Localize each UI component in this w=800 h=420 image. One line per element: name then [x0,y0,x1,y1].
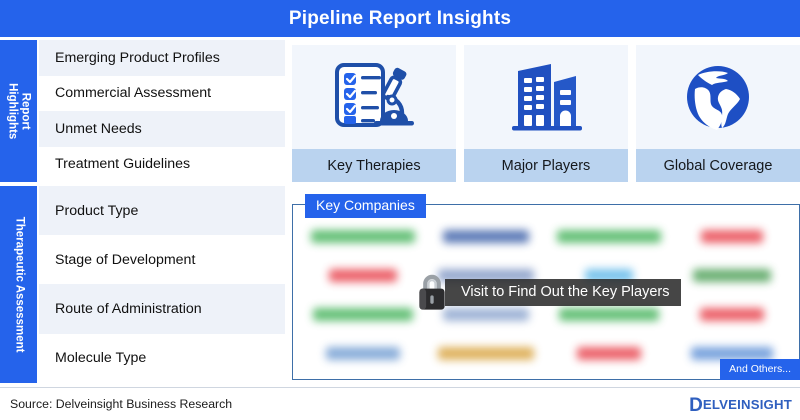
card-label: Major Players [464,149,628,182]
sidebar-item-emerging-product-profiles[interactable]: Emerging Product Profiles [37,40,285,76]
sidebar-item-route-of-administration[interactable]: Route of Administration [37,284,285,333]
source-text: Source: Delveinsight Business Research [10,397,232,411]
page-footer: Source: Delveinsight Business Research D… [0,387,800,420]
company-logo-placeholder [329,269,397,282]
company-logo-placeholder [443,230,529,243]
company-logo-placeholder [438,347,534,360]
sidebar-item-label: Molecule Type [55,350,146,366]
logo-wordmark: ELVEINSIGHT [703,397,792,412]
company-logo-placeholder [438,269,534,282]
card-label: Global Coverage [636,149,800,182]
sidebar-item-commercial-assessment[interactable]: Commercial Assessment [37,76,285,112]
page-header: Pipeline Report Insights [0,0,800,37]
sidebar: Report Highlights Emerging Product Profi… [0,40,285,383]
and-others-badge[interactable]: And Others... [720,359,800,380]
sidebar-item-molecule-type[interactable]: Molecule Type [37,334,285,383]
sidebar-item-unmet-needs[interactable]: Unmet Needs [37,111,285,147]
card-global-coverage[interactable]: Global Coverage [636,45,800,182]
company-logo-placeholder [443,308,529,321]
sidebar-group-tab-label: Report Highlights [5,83,31,139]
sidebar-item-treatment-guidelines[interactable]: Treatment Guidelines [37,147,285,183]
company-logo-placeholder [700,308,764,321]
key-companies-panel: Key Companies Visit to Find Out the Key … [292,204,800,380]
sidebar-item-label: Emerging Product Profiles [55,50,220,66]
company-logo-placeholder [693,269,771,282]
sidebar-group-tab-therapeutic-assessment: Therapeutic Assessment [0,186,37,383]
company-logo-grid [293,215,800,379]
sidebar-item-label: Product Type [55,203,138,219]
sidebar-item-label: Route of Administration [55,301,202,317]
sidebar-item-label: Treatment Guidelines [55,156,190,172]
logo-initial: D [689,396,703,415]
sidebar-item-label: Stage of Development [55,252,195,268]
feature-cards: Key Therapies [292,45,800,182]
company-logo-placeholder [557,230,661,243]
clipboard-microscope-icon [292,45,456,149]
sidebar-group-items: Emerging Product Profiles Commercial Ass… [37,40,285,182]
pipeline-report-insights-page: Pipeline Report Insights Report Highligh… [0,0,800,420]
company-logo-placeholder [313,308,413,321]
card-key-therapies[interactable]: Key Therapies [292,45,456,182]
sidebar-item-product-type[interactable]: Product Type [37,186,285,235]
sidebar-group-tab-report-highlights: Report Highlights [0,40,37,182]
sidebar-group-items: Product Type Stage of Development Route … [37,186,285,383]
sidebar-group-tab-label: Therapeutic Assessment [12,217,25,353]
card-label: Key Therapies [292,149,456,182]
company-logo-placeholder [585,269,633,282]
sidebar-item-label: Unmet Needs [55,121,142,137]
sidebar-group-report-highlights: Report Highlights Emerging Product Profi… [0,40,285,182]
company-logo-placeholder [577,347,641,360]
card-major-players[interactable]: Major Players [464,45,628,182]
company-logo-placeholder [311,230,415,243]
company-logo-placeholder [559,308,659,321]
company-logo-placeholder [326,347,400,360]
delveinsight-logo: D ELVEINSIGHT [689,395,792,414]
sidebar-group-therapeutic-assessment: Therapeutic Assessment Product Type Stag… [0,186,285,383]
page-title: Pipeline Report Insights [289,8,511,30]
company-logo-placeholder [701,230,763,243]
globe-icon [636,45,800,149]
office-buildings-icon [464,45,628,149]
sidebar-item-label: Commercial Assessment [55,85,211,101]
sidebar-item-stage-of-development[interactable]: Stage of Development [37,235,285,284]
